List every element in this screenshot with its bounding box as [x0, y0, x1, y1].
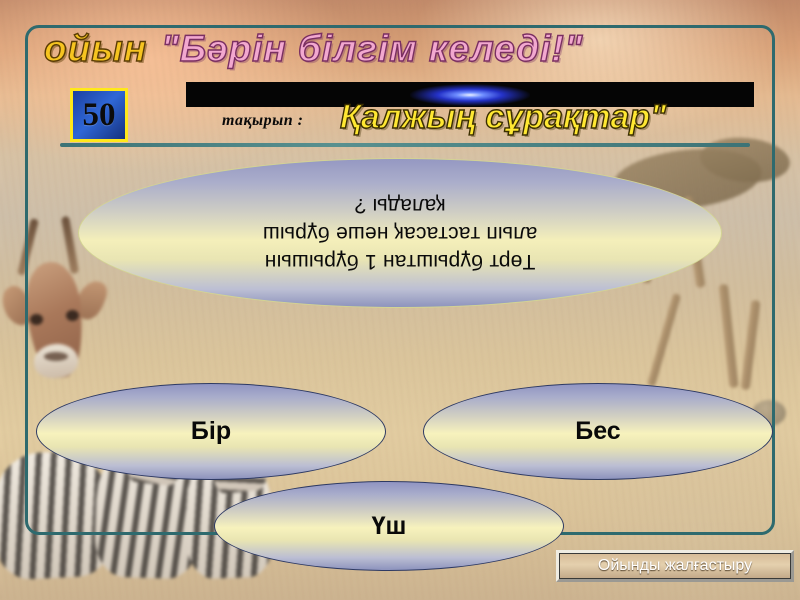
page-title: ойын"Бәрін білгім келеді!" — [44, 28, 784, 82]
question-line-2: алып тастасақ неше бұрыш — [263, 219, 538, 247]
question-callout: Төрт бұрыштан 1 бұрышын алып тастасақ не… — [78, 158, 722, 308]
score-badge: 50 — [70, 88, 128, 142]
header-divider-rule — [60, 143, 750, 147]
antelope-eye — [30, 314, 43, 325]
antelope-nose — [44, 352, 68, 361]
subject-value: Қалжың сұрақтар" — [340, 98, 666, 137]
title-game-word: ойын — [44, 28, 147, 70]
antelope-eye — [66, 310, 79, 321]
quiz-slide: ойын"Бәрін білгім келеді!" 50 тақырып : … — [0, 0, 800, 600]
answer-option-bir[interactable]: Бір — [36, 383, 386, 480]
answer-option-ush[interactable]: Үш — [214, 481, 564, 571]
answer-option-bes[interactable]: Бес — [423, 383, 773, 480]
question-text: Төрт бұрыштан 1 бұрышын алып тастасақ не… — [78, 158, 722, 308]
question-line-1: Төрт бұрыштан 1 бұрышын — [263, 247, 538, 275]
title-quoted-name: "Бәрін білгім келеді!" — [161, 28, 583, 70]
continue-game-button[interactable]: Ойынды жалғастыру — [556, 550, 794, 582]
question-line-3: қалады ? — [263, 191, 538, 219]
subject-label: тақырып : — [222, 112, 303, 130]
